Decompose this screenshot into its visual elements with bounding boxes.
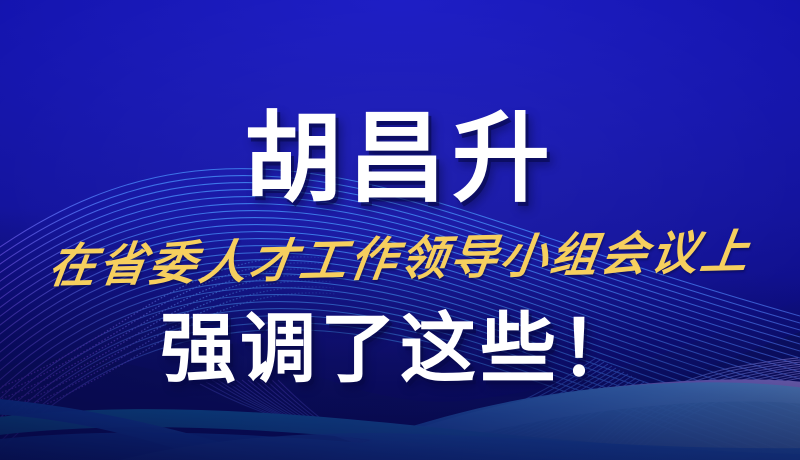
subtitle-occasion: 在省委人才工作领导小组会议上	[0, 224, 800, 297]
poster-canvas: 胡昌升 在省委人才工作领导小组会议上 强调了这些！	[0, 0, 800, 460]
headline-block: 胡昌升 在省委人才工作领导小组会议上 强调了这些！	[0, 0, 800, 460]
emphasis-line: 强调了这些！	[0, 306, 800, 394]
page-title-name: 胡昌升	[0, 104, 800, 212]
